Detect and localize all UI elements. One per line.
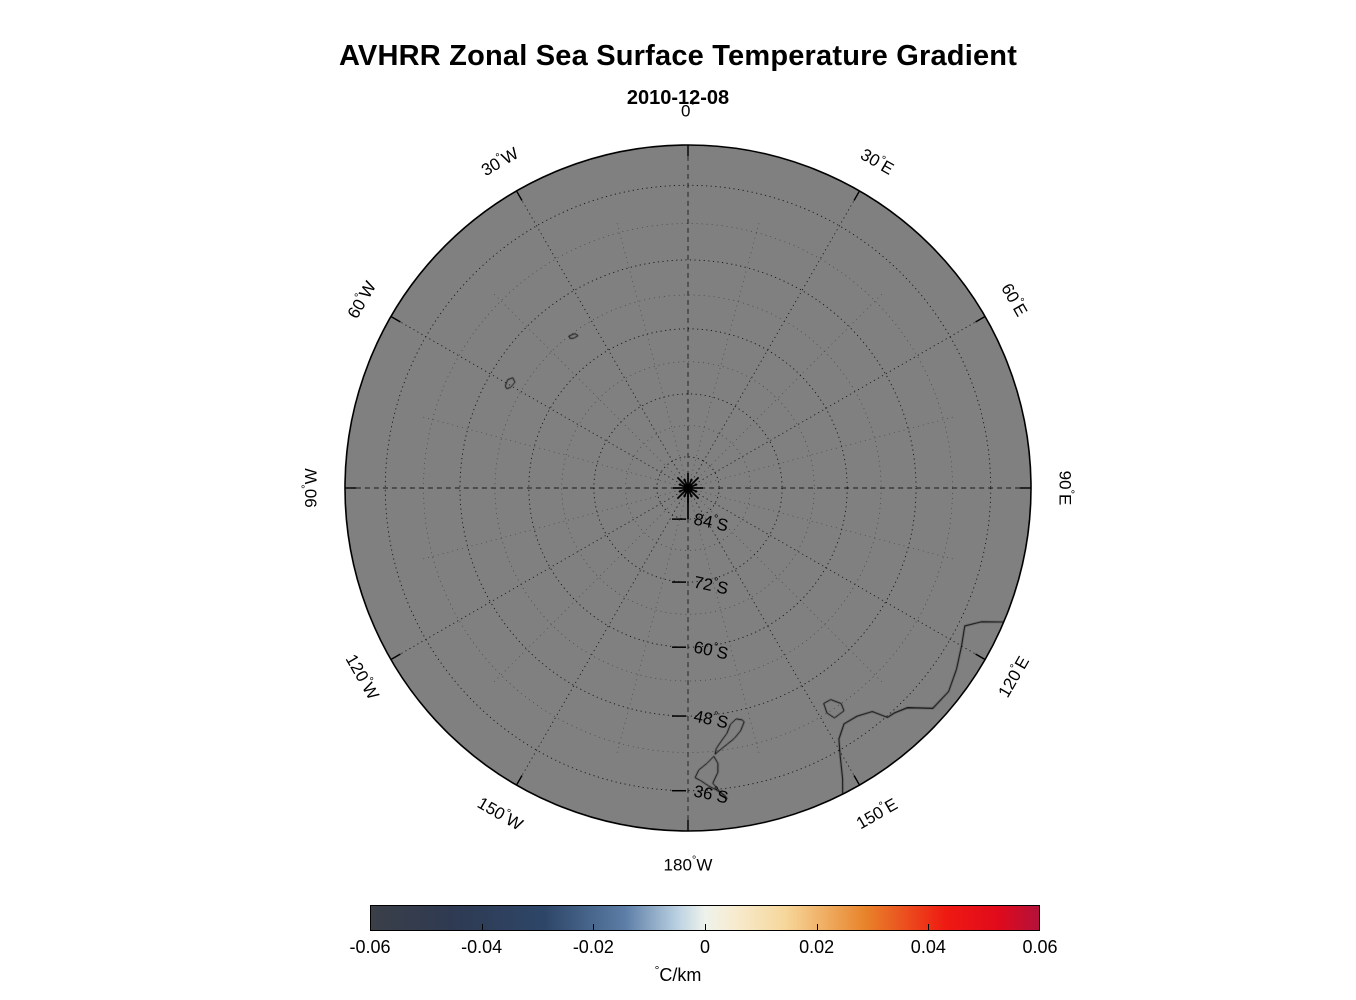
meridian-30 [690, 191, 860, 485]
colorbar-tick-label: -0.02 [573, 937, 614, 958]
colorbar-tick [928, 924, 929, 931]
colorbar-unit-label: °C/km [0, 963, 1356, 986]
lon-label-0: 0° [681, 101, 695, 122]
meridian-150 [690, 491, 860, 785]
colorbar-tick [705, 924, 706, 931]
colorbar: -0.06-0.04-0.0200.020.040.06 [370, 905, 1040, 931]
meridian--120 [391, 490, 685, 660]
lon-tick [517, 191, 523, 201]
colorbar-tick-label: 0 [700, 937, 710, 958]
colorbar-tick-label: 0.02 [799, 937, 834, 958]
meridian--60 [391, 317, 685, 487]
colorbar-tick-label: 0.06 [1022, 937, 1057, 958]
colorbar-tick-label: -0.04 [461, 937, 502, 958]
lon-tick [391, 654, 401, 660]
lon-tick [976, 654, 986, 660]
colorbar-tick-label: -0.06 [349, 937, 390, 958]
meridian--150 [517, 491, 687, 785]
meridian-minor [691, 489, 956, 560]
lon-tick [517, 776, 523, 786]
lon-tick [854, 776, 860, 786]
meridian-minor [690, 292, 884, 486]
figure-canvas: AVHRR Zonal Sea Surface Temperature Grad… [0, 0, 1356, 1000]
polar-map: 0°30°E60°E90°E120°E150°E180°W150°W120°W9… [338, 138, 1038, 838]
map-overlay [338, 138, 1038, 838]
meridian-minor [492, 292, 686, 486]
lon-tick [976, 317, 986, 323]
lon-tick [391, 317, 401, 323]
lon-label--90: 90°W [301, 468, 322, 507]
meridian-minor [691, 416, 956, 487]
meridian-120 [691, 490, 985, 660]
colorbar-tick [482, 924, 483, 931]
page-title: AVHRR Zonal Sea Surface Temperature Grad… [0, 40, 1356, 73]
colorbar-tick [593, 924, 594, 931]
meridian-60 [691, 317, 985, 487]
colorbar-tick [817, 924, 818, 931]
lon-tick [854, 191, 860, 201]
colorbar-tick-label: 0.04 [911, 937, 946, 958]
meridian-minor [492, 490, 686, 684]
lon-label-180: 180°W [664, 855, 713, 876]
lon-label-90: 90°E [1055, 471, 1076, 506]
meridian--30 [517, 191, 687, 485]
figure-subtitle: 2010-12-08 [0, 87, 1356, 110]
